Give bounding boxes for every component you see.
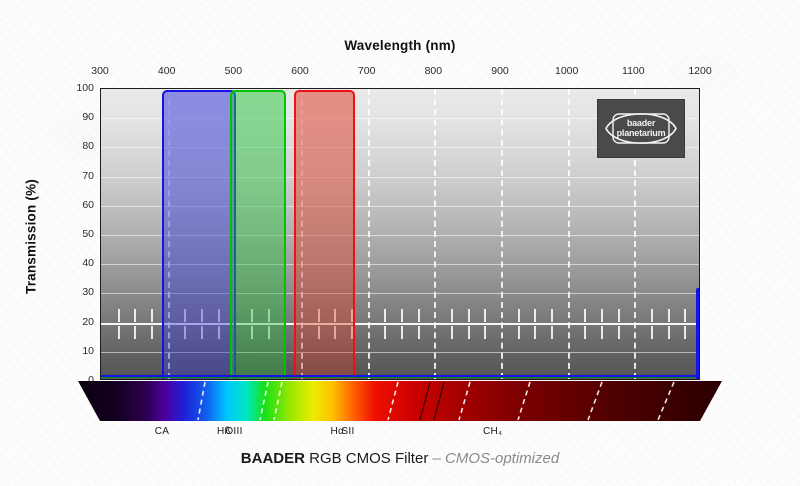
x-tick-label: 400 — [158, 65, 176, 77]
figure-caption: BAADER RGB CMOS Filter – CMOS-optimized — [0, 450, 800, 467]
y-tick-label: 100 — [76, 82, 94, 94]
minor-tick — [684, 326, 686, 339]
minor-tick — [418, 309, 420, 322]
minor-tick — [518, 326, 520, 339]
y-tick-label: 30 — [82, 286, 94, 298]
gridline-vertical — [501, 89, 503, 379]
minor-tick — [601, 326, 603, 339]
minor-tick — [584, 309, 586, 322]
x-axis-title: Wavelength (nm) — [0, 38, 800, 53]
x-tick-label: 700 — [358, 65, 376, 77]
y-tick-label: 80 — [82, 140, 94, 152]
x-tick-label: 600 — [291, 65, 309, 77]
caption-suffix: – CMOS-optimized — [432, 450, 559, 467]
caption-main: RGB CMOS Filter — [305, 450, 433, 467]
minor-tick — [118, 309, 120, 322]
minor-tick — [668, 326, 670, 339]
blue-baseline-trace — [101, 375, 699, 378]
y-tick-label: 70 — [82, 170, 94, 182]
minor-tick — [651, 309, 653, 322]
gridline-vertical — [434, 89, 436, 379]
y-tick-label: 90 — [82, 111, 94, 123]
minor-tick — [384, 309, 386, 322]
plot-area: baader planetarium — [100, 88, 700, 380]
y-tick-label: 40 — [82, 257, 94, 269]
minor-tick — [534, 309, 536, 322]
minor-tick — [584, 326, 586, 339]
minor-tick — [534, 326, 536, 339]
minor-tick — [468, 309, 470, 322]
spectral-line-label: CH₄ — [483, 426, 502, 437]
x-tick-label: 300 — [91, 65, 109, 77]
spectral-line-label: OIII — [225, 426, 242, 437]
y-tick-label: 60 — [82, 199, 94, 211]
minor-tick — [401, 326, 403, 339]
logo-text: baader planetarium — [617, 119, 666, 138]
x-tick-label: 500 — [225, 65, 243, 77]
minor-tick — [451, 326, 453, 339]
x-tick-label: 1000 — [555, 65, 578, 77]
minor-tick — [134, 309, 136, 322]
plot-inner: baader planetarium — [101, 89, 699, 379]
y-tick-label: 20 — [82, 316, 94, 328]
spectral-line-label: SII — [341, 426, 354, 437]
x-tick-label: 800 — [425, 65, 443, 77]
minor-tick — [601, 309, 603, 322]
spectral-line-label: CA — [155, 426, 170, 437]
y-tick-label: 50 — [82, 228, 94, 240]
filter-transmission-chart: Wavelength (nm) Transmission (%) 3004005… — [0, 0, 800, 486]
gridline-vertical — [568, 89, 570, 379]
logo-lens-outline: baader planetarium — [602, 105, 680, 152]
minor-tick — [484, 326, 486, 339]
minor-tick — [384, 326, 386, 339]
minor-tick — [468, 326, 470, 339]
minor-tick — [668, 309, 670, 322]
minor-tick — [401, 309, 403, 322]
blue-filter-band — [162, 90, 236, 379]
y-tick-label: 10 — [82, 345, 94, 357]
minor-tick — [684, 309, 686, 322]
logo-line-2: planetarium — [617, 129, 666, 139]
minor-tick — [618, 326, 620, 339]
minor-tick — [118, 326, 120, 339]
x-tick-label: 1100 — [622, 65, 645, 77]
minor-tick — [151, 326, 153, 339]
x-tick-label: 900 — [491, 65, 509, 77]
y-axis-title: Transmission (%) — [24, 142, 39, 332]
minor-tick — [151, 309, 153, 322]
minor-tick — [484, 309, 486, 322]
minor-tick — [134, 326, 136, 339]
minor-tick — [451, 309, 453, 322]
red-filter-band — [294, 90, 355, 379]
minor-tick — [518, 309, 520, 322]
gridline-vertical — [368, 89, 370, 379]
minor-tick — [618, 309, 620, 322]
minor-tick — [651, 326, 653, 339]
x-tick-label: 1200 — [688, 65, 711, 77]
minor-tick — [551, 309, 553, 322]
baader-planetarium-logo: baader planetarium — [597, 99, 685, 158]
green-filter-band — [230, 90, 286, 379]
blue-ir-leak-trace — [696, 288, 700, 379]
minor-tick — [551, 326, 553, 339]
minor-tick — [418, 326, 420, 339]
visible-spectrum-strip — [78, 381, 722, 421]
caption-brand: BAADER — [241, 450, 305, 467]
